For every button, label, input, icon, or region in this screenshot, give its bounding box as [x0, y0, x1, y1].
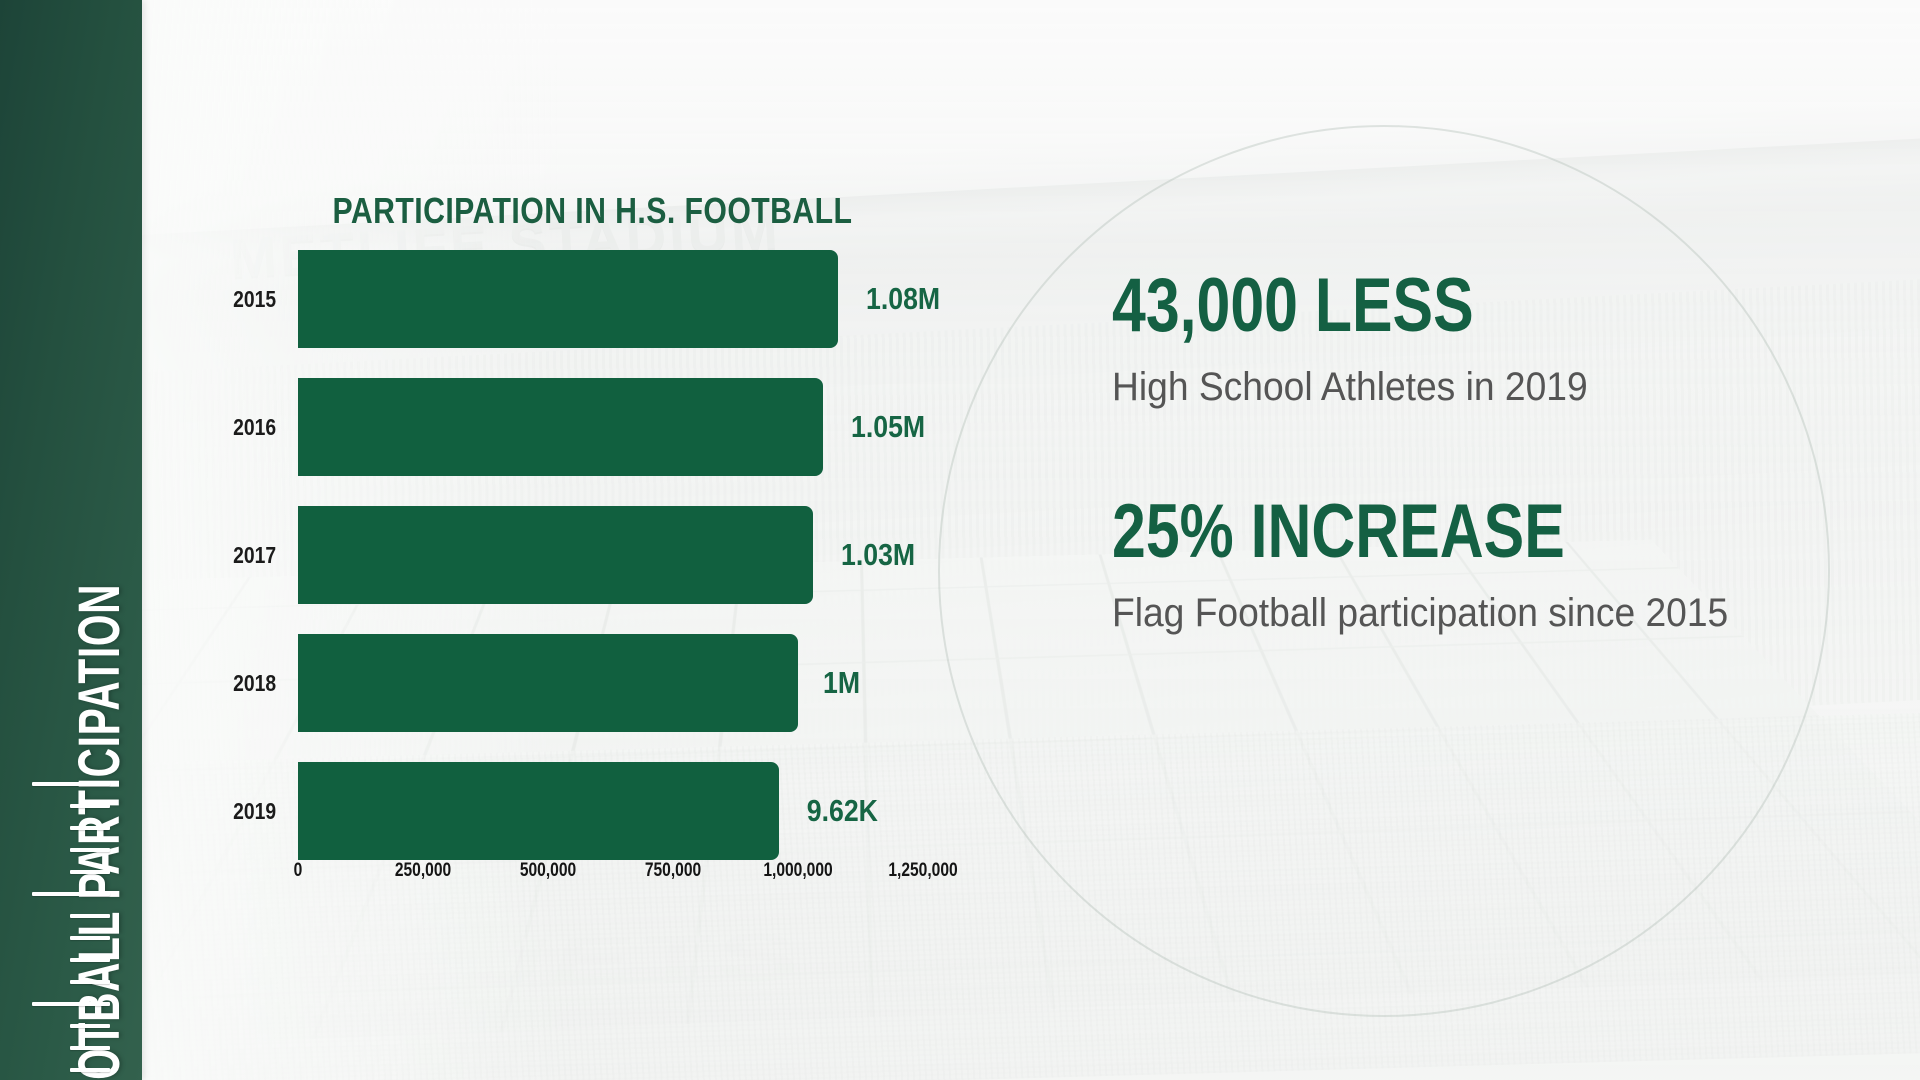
- stat-headline-label: 43,000 LESS: [1112, 268, 1474, 344]
- chart-panel: PARTICIPATION IN H.S. FOOTBALL 20151.08M…: [142, 0, 1182, 1080]
- bar-row: 20171.03M: [298, 506, 998, 604]
- bar-track: 1M: [298, 634, 998, 732]
- bar-row: 20161.05M: [298, 378, 998, 476]
- bar-row: 20181M: [298, 634, 998, 732]
- ruler-tick-minor: [70, 1046, 110, 1050]
- x-axis-tick-label: 500,000: [514, 860, 583, 882]
- bar-track: 9.62K: [298, 762, 998, 860]
- x-axis: 0250,000500,000750,0001,000,0001,250,000: [298, 860, 998, 900]
- bar-category-label: 2016: [176, 378, 280, 476]
- ruler-tick-major: [32, 892, 110, 896]
- bar-value-label: 1.08M: [838, 250, 946, 348]
- stat-subtext: Flag Football participation since 2015: [1112, 590, 1920, 636]
- x-axis-tick-text: 250,000: [395, 860, 451, 882]
- bar-fill[interactable]: [298, 762, 779, 860]
- bar-track: 1.05M: [298, 378, 998, 476]
- bar-value-text: 1.05M: [851, 409, 925, 445]
- stats-column: 43,000 LESS High School Athletes in 2019…: [1112, 0, 1920, 1080]
- infographic-slide: METLIFE STADIUM JETS FOOTBALL PARTICIPAT…: [0, 0, 1920, 1080]
- stat-headline: 43,000 LESS: [1112, 268, 1920, 344]
- chart-title-label: PARTICIPATION IN H.S. FOOTBALL: [332, 190, 852, 232]
- ruler-tick-minor: [70, 958, 110, 962]
- ruler-tick-minor: [70, 804, 110, 808]
- sidebar: FOOTBALL PARTICIPATION: [0, 0, 142, 1080]
- stat-headline: 25% INCREASE: [1112, 494, 1920, 570]
- stat-headline-label: 25% INCREASE: [1112, 494, 1565, 570]
- ruler-tick-minor: [70, 848, 110, 852]
- bar-category-text: 2018: [233, 670, 276, 697]
- ruler-tick-minor: [70, 870, 110, 874]
- stat-block-athletes: 43,000 LESS High School Athletes in 2019: [1112, 268, 1920, 410]
- bar-fill[interactable]: [298, 378, 823, 476]
- ruler-tick-minor: [70, 980, 110, 984]
- stat-subtext-label: Flag Football participation since 2015: [1112, 590, 1728, 636]
- bar-value-text: 9.62K: [807, 793, 878, 829]
- x-axis-tick-text: 1,250,000: [888, 860, 957, 882]
- x-axis-tick-label: 250,000: [389, 860, 458, 882]
- bar-value-label: 1.05M: [823, 378, 931, 476]
- x-axis-tick-label: 750,000: [639, 860, 708, 882]
- bar-category-label: 2019: [176, 762, 280, 860]
- ruler-tick-minor: [70, 826, 110, 830]
- bar-row: 20151.08M: [298, 250, 998, 348]
- bar-category-text: 2015: [233, 286, 276, 313]
- ruler-tick-minor: [70, 914, 110, 918]
- bar-category-text: 2017: [233, 542, 276, 569]
- bar-track: 1.03M: [298, 506, 998, 604]
- ruler-tick-minor: [70, 936, 110, 940]
- bar-value-label: 9.62K: [779, 762, 884, 860]
- bar-track: 1.08M: [298, 250, 998, 348]
- bar-value-text: 1.08M: [866, 281, 940, 317]
- bar-chart-plot-area: 20151.08M20161.05M20171.03M20181M20199.6…: [298, 250, 998, 860]
- x-axis-tick-text: 1,000,000: [763, 860, 832, 882]
- stat-subtext-label: High School Athletes in 2019: [1112, 364, 1588, 410]
- bar-category-text: 2016: [233, 414, 276, 441]
- x-axis-tick-label: 1,000,000: [756, 860, 841, 882]
- bar-value-text: 1M: [823, 665, 860, 701]
- stat-block-flag-football: 25% INCREASE Flag Football participation…: [1112, 494, 1920, 636]
- bar-value-text: 1.03M: [841, 537, 915, 573]
- ruler-tick-minor: [70, 1068, 110, 1072]
- yard-marker-ruler: [0, 782, 142, 1080]
- bar-category-label: 2018: [176, 634, 280, 732]
- bar-fill[interactable]: [298, 250, 838, 348]
- ruler-tick-major: [32, 1002, 110, 1006]
- bar-row: 20199.62K: [298, 762, 998, 860]
- ruler-tick-major: [32, 782, 110, 786]
- bar-value-label: 1.03M: [813, 506, 921, 604]
- x-axis-tick-text: 750,000: [645, 860, 701, 882]
- bar-fill[interactable]: [298, 634, 798, 732]
- bar-category-label: 2017: [176, 506, 280, 604]
- x-axis-tick-label: 1,250,000: [881, 860, 966, 882]
- x-axis-tick-text: 500,000: [520, 860, 576, 882]
- x-axis-tick-label: 0: [293, 860, 304, 882]
- stat-subtext: High School Athletes in 2019: [1112, 364, 1920, 410]
- bar-fill[interactable]: [298, 506, 813, 604]
- bar-value-label: 1M: [798, 634, 863, 732]
- bar-category-label: 2015: [176, 250, 280, 348]
- chart-title: PARTICIPATION IN H.S. FOOTBALL: [142, 190, 1042, 232]
- x-axis-tick-text: 0: [294, 860, 303, 882]
- bar-category-text: 2019: [233, 798, 276, 825]
- ruler-tick-minor: [70, 1024, 110, 1028]
